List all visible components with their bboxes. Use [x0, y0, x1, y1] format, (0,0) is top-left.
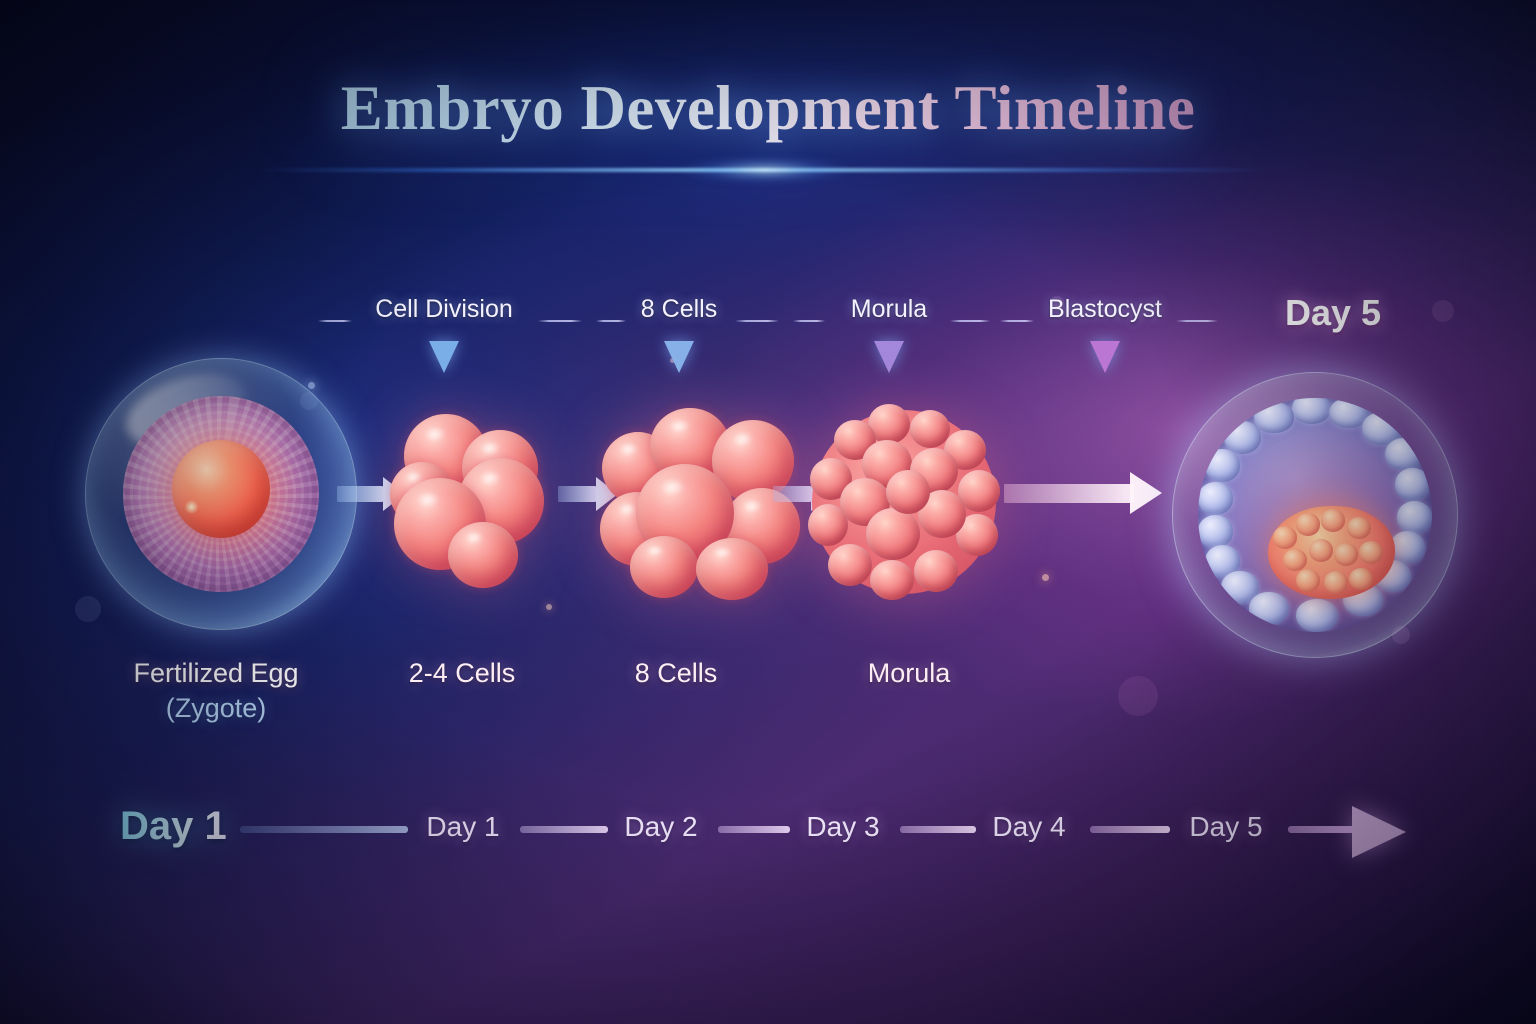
ambient-speck [1118, 676, 1158, 716]
pointer-triangle-icon [664, 341, 694, 373]
timeline-segment [900, 826, 976, 833]
day-5-heading: Day 5 [1285, 292, 1381, 334]
infographic-canvas: Embryo Development Timeline Cell Divisio… [0, 0, 1536, 1024]
icm-cell [1349, 568, 1373, 591]
trophoblast-cell [1254, 402, 1294, 432]
pointer-triangle-icon [1090, 341, 1120, 373]
inner-cell-mass [1268, 506, 1395, 600]
caption-morula: Morula [868, 658, 951, 689]
icm-cell [1334, 543, 1358, 566]
annotation-label-8-cells: 8 Cells [641, 295, 717, 324]
morula-cell [870, 560, 914, 600]
annotation-label-cell-division: Cell Division [375, 295, 513, 324]
morula-cell [828, 544, 872, 586]
timeline-segment [1090, 826, 1170, 833]
trophoblast-cell [1198, 515, 1233, 548]
ambient-speck [1042, 574, 1049, 581]
icm-cell [1321, 509, 1345, 532]
icm-cell [1283, 549, 1307, 572]
nucleus [172, 440, 270, 538]
caption-line-1: Morula [868, 658, 951, 689]
illustration-morula [806, 404, 1002, 600]
timeline-arrow-icon [1352, 806, 1406, 858]
caption-2-4-cells: 2-4 Cells [409, 658, 516, 689]
progress-arrow-icon [1004, 472, 1172, 514]
blastomere [448, 522, 518, 588]
annotation-dash [950, 320, 990, 322]
annotation-dash [538, 320, 582, 322]
timeline-label-day-2: Day 2 [624, 811, 697, 843]
ambient-speck [546, 604, 552, 610]
blastomere [630, 536, 698, 598]
annotation-label-morula: Morula [851, 295, 927, 324]
title-container: Embryo Development Timeline [0, 72, 1536, 145]
morula-cell [866, 508, 920, 560]
timeline-label-day-4: Day 4 [992, 811, 1065, 843]
caption-line-1: Fertilized Egg [133, 658, 298, 689]
caption-8-cells: 8 Cells [635, 658, 718, 689]
title-underglow [255, 168, 1275, 172]
caption-fertilized-egg: Fertilized Egg (Zygote) [133, 658, 298, 724]
annotation-dash [318, 320, 352, 322]
icm-cell [1309, 539, 1333, 562]
annotation-label-blastocyst: Blastocyst [1048, 295, 1162, 324]
timeline-label-day-5: Day 5 [1189, 811, 1262, 843]
icm-cell [1273, 526, 1297, 549]
pointer-triangle-icon [874, 341, 904, 373]
illustration-blastocyst [1172, 372, 1458, 658]
trophoblast-cell [1397, 501, 1432, 534]
trophoblast-cell [1385, 438, 1423, 471]
timeline-segment [240, 826, 408, 833]
caption-line-1: 2-4 Cells [409, 658, 516, 689]
trophoblast-cell [1395, 468, 1430, 501]
annotation-dash [1176, 320, 1218, 322]
caption-line-1: 8 Cells [635, 658, 718, 689]
annotation-dash [793, 320, 825, 322]
timeline-segment [718, 826, 790, 833]
trophoblast-cell [1205, 449, 1240, 482]
trophoblast-cell [1198, 482, 1233, 515]
timeline-day-1-heading: Day 1 [120, 804, 227, 849]
trophoblast-cell [1249, 592, 1289, 625]
timeline-segment [1288, 826, 1360, 833]
timeline-label-day-1: Day 1 [426, 811, 499, 843]
morula-cell [910, 410, 950, 448]
icm-cell [1324, 571, 1348, 594]
trophoblast-cell [1296, 599, 1338, 632]
annotation-dash [1000, 320, 1034, 322]
blastocoel-cavity [1198, 398, 1433, 633]
illustration-8-cells [600, 404, 800, 604]
trophoblast-cell [1292, 398, 1332, 424]
annotation-dash [735, 320, 779, 322]
caption-line-2: (Zygote) [133, 693, 298, 724]
illustration-fertilized-egg [85, 358, 357, 630]
icm-cell [1347, 517, 1371, 540]
timeline-label-day-3: Day 3 [806, 811, 879, 843]
annotation-dash [596, 320, 626, 322]
timeline-segment [520, 826, 608, 833]
icm-cell [1359, 541, 1383, 564]
morula-cell [914, 550, 958, 592]
page-title: Embryo Development Timeline [341, 72, 1196, 145]
blastomere [696, 538, 768, 600]
morula-cell [886, 470, 930, 514]
icm-cell [1296, 569, 1320, 592]
illustration-2-4-cells [388, 412, 564, 588]
pointer-triangle-icon [429, 341, 459, 373]
icm-cell [1296, 513, 1320, 536]
